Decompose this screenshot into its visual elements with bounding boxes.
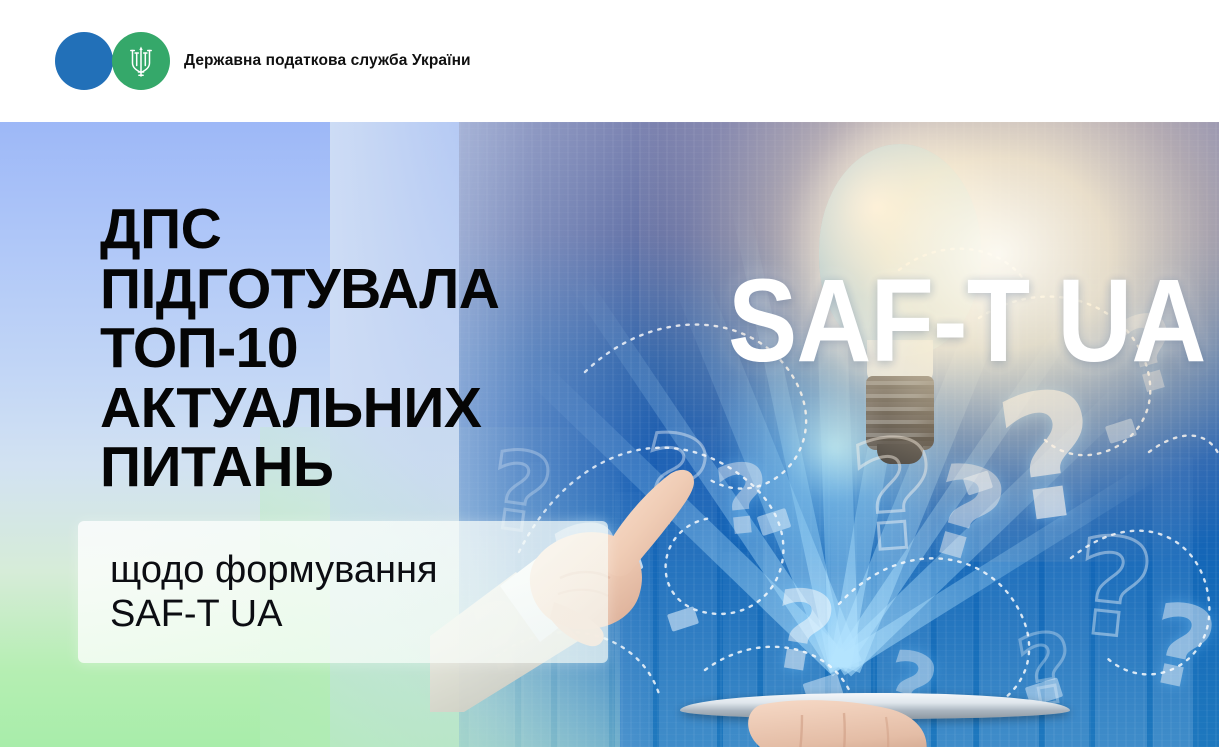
hero-stage: ? ? ? ? ? ? ? ? ? ? ? ? ? ? [0,122,1219,747]
logo-circles [55,32,170,90]
poster-root: Державна податкова служба України [0,0,1219,747]
logo-text: Державна податкова служба України [184,51,471,72]
logo-blue-circle [55,32,113,90]
page-title: ДПС ПІДГОТУВАЛА ТОП-10 АКТУАЛЬНИХ ПИТАНЬ [100,200,499,498]
saft-ua-overlay-title: SAF-T UA [728,262,1205,380]
tablet-device-icon [680,671,1070,741]
ukraine-trident-icon [112,32,170,90]
site-header: Державна податкова служба України [0,0,1219,122]
dps-logo[interactable]: Державна податкова служба України [55,32,471,90]
holding-hand-icon [740,699,990,747]
subtitle-text: щодо формування SAF-T UA [110,548,438,636]
subtitle-panel: щодо формування SAF-T UA [78,521,608,663]
